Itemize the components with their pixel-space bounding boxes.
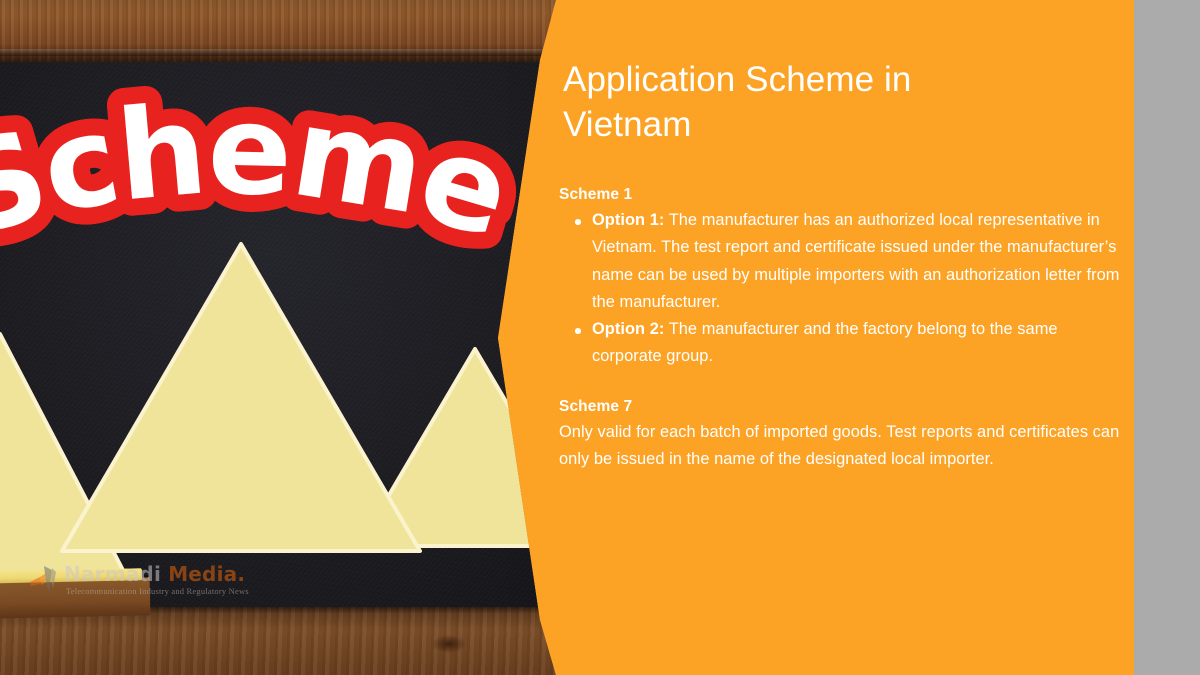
section-heading: Scheme 7 <box>559 395 1129 418</box>
svg-text:Scheme: Scheme <box>0 78 523 266</box>
wood-frame-top <box>0 0 600 64</box>
watermark-name-accent: Media. <box>168 562 245 586</box>
narmadi-logo-icon <box>28 562 62 596</box>
watermark-name-primary: Narmadi <box>64 562 161 586</box>
option-list: Option 1: The manufacturer has an author… <box>559 207 1129 370</box>
section-scheme-1: Scheme 1 Option 1: The manufacturer has … <box>559 183 1129 371</box>
section-paragraph: Only valid for each batch of imported go… <box>559 419 1125 473</box>
content-column: Application Scheme in Vietnam Scheme 1 O… <box>557 0 1117 675</box>
section-scheme-7: Scheme 7 Only valid for each batch of im… <box>559 395 1129 473</box>
list-item: Option 2: The manufacturer and the facto… <box>559 316 1129 370</box>
wood-frame-bottom <box>0 607 600 675</box>
watermark-tagline: Telecommunication Industry and Regulator… <box>66 586 249 596</box>
section-heading: Scheme 1 <box>559 183 1129 206</box>
chevron-stripe-decoration <box>1126 0 1200 675</box>
option-label: Option 2: <box>592 320 664 338</box>
wood-knot <box>432 635 466 653</box>
option-text: The manufacturer has an authorized local… <box>592 211 1119 311</box>
watermark-name: Narmadi Media. <box>64 562 245 586</box>
page-title: Application Scheme in Vietnam <box>563 58 1033 148</box>
watermark: Narmadi Media. Telecommunication Industr… <box>28 560 258 606</box>
scheme-word-fill: Scheme <box>0 78 523 266</box>
scheme-word-art: Scheme Scheme <box>0 58 580 288</box>
option-label: Option 1: <box>592 211 664 229</box>
content-body: Scheme 1 Option 1: The manufacturer has … <box>559 183 1129 473</box>
list-item: Option 1: The manufacturer has an author… <box>559 207 1129 316</box>
slide-root: Scheme Scheme Narmadi Media. Telecommuni… <box>0 0 1200 675</box>
